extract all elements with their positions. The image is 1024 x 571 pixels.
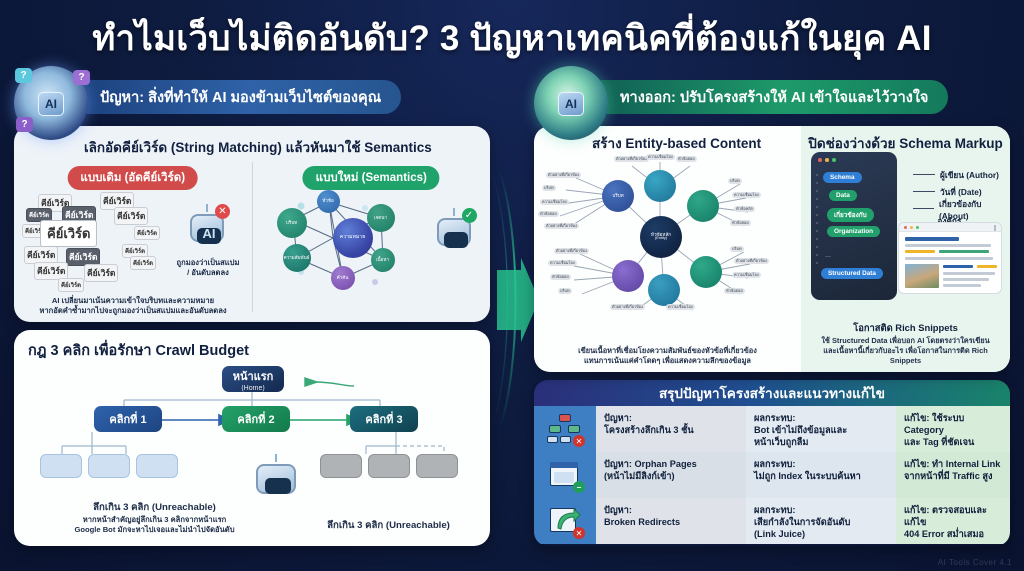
schema-tag-structured-data[interactable]: Structured Data <box>821 268 883 279</box>
graph-node: บริบท <box>277 208 307 238</box>
entity-leaf: ตัวอย่างที่เกี่ยวข้อง <box>546 172 581 178</box>
semantic-graph: ความหมาย บริบท หัวข้อ เจตนา ความสัมพันธ์… <box>271 186 421 290</box>
row-icon-cell: ✕ <box>534 498 596 544</box>
semantics-footnote: AI เปลี่ยนมาเน้นความเข้าใจบริบทและความหม… <box>24 296 242 317</box>
tree-node-click3: คลิกที่ 3 <box>350 406 418 432</box>
ai-bot-approved-icon: ✓ <box>437 212 471 250</box>
entity-panel: สร้าง Entity-based Content <box>534 126 801 372</box>
impact-cell: ผลกระทบ: Bot เข้าไม่ถึงข้อมูลและ หน้าเว็… <box>746 406 896 452</box>
crawl-caption-left: ลึกเกิน 3 คลิก (Unreachable) หากหน้าสำคั… <box>32 502 277 535</box>
rich-snippet-preview <box>898 222 1002 294</box>
table-row: ✕ ปัญหา: โครงสร้างลึกเกิน 3 ชั้น ผลกระทบ… <box>534 406 1010 452</box>
keyword-chip: คีย์เวิร์ด <box>134 226 160 240</box>
page-title-bar: ทำไมเว็บไม่ติดอันดับ? 3 ปัญหาเทคนิคที่ต้… <box>0 8 1024 68</box>
entity-leaf: บริบท <box>730 246 744 252</box>
entity-leaf: ตัวอย่างที่เกี่ยวข้อง <box>614 156 649 162</box>
entity-caption: เขียนเนื้อหาที่เชื่อมโยงความสัมพันธ์ของห… <box>540 346 795 366</box>
error-badge-icon: ✕ <box>573 527 585 539</box>
tree-leaf-unreachable <box>320 454 362 478</box>
right-column-solutions: AI ทางออก: ปรับโครงสร้างให้ AI เข้าใจและ… <box>534 72 1010 546</box>
question-bubble-icon: ? <box>15 68 32 83</box>
entity-leaf: ความเชื่อมโยง <box>646 154 675 160</box>
keyword-chip: คีย์เวิร์ด <box>58 278 84 292</box>
entity-node <box>612 260 644 292</box>
entity-leaf: หัวข้อย่อย <box>550 274 571 280</box>
connector-line <box>913 191 935 193</box>
question-bubble-icon: ? <box>16 117 33 132</box>
entity-leaf: ตัวอย่างที่เกี่ยวข้อง <box>734 258 769 264</box>
schema-caption: โอกาสติด Rich Snippets ใช้ Structured Da… <box>807 321 1004 366</box>
schema-tag[interactable]: Data <box>829 190 857 201</box>
crawl-caption-right: ลึกเกิน 3 คลิก (Unreachable) <box>296 520 481 533</box>
entity-leaf: หัวข้อย่อย <box>724 288 745 294</box>
broken-redirect-icon: ✕ <box>548 506 582 536</box>
graph-node: เนื้อหา <box>371 248 395 272</box>
ai-brain-icon-problem: ? ? ? AI <box>14 66 88 140</box>
schema-tag[interactable]: เกี่ยวข้องกับ <box>827 208 874 222</box>
entity-node <box>690 256 722 288</box>
graph-node: เจตนา <box>367 204 395 232</box>
entity-leaf: บริบท <box>558 288 572 294</box>
tree-node-click2: คลิกที่ 2 <box>222 406 290 432</box>
table-row: − ปัญหา: Orphan Pages (หน้าไม่มีลิงก์เข้… <box>534 452 1010 498</box>
entity-leaf: ความเชื่อมโยง <box>540 199 569 205</box>
crawl-heading: กฎ 3 คลิก เพื่อรักษา Crawl Budget <box>14 330 490 362</box>
keyword-chip: คีย์เวิร์ด <box>84 264 118 282</box>
graph-center-node: ความหมาย <box>333 218 373 258</box>
tree-node-click1: คลิกที่ 1 <box>94 406 162 432</box>
fix-cell: แก้ไข: ตรวจสอบและแก้ไข 404 Error สม่ำเสม… <box>896 498 1010 544</box>
flow-arrow-divider <box>487 150 541 450</box>
tree-node-home: หน้าแรก (Home) <box>222 366 284 392</box>
entity-node: บริบท <box>602 180 634 212</box>
entity-leaf: บริบท <box>542 185 556 191</box>
problem-section-pill: ปัญหา: สิ่งที่ทำให้ AI มองข้ามเว็บไซต์ขอ… <box>66 80 401 114</box>
fix-cell: แก้ไข: ใช้ระบบ Category และ Tag ที่ชัดเจ… <box>896 406 1010 452</box>
entity-leaf: ความเชื่อมโยง <box>732 272 761 278</box>
semantics-body: แบบเดิม (อัดคีย์เวิร์ด) คีย์เวิร์ด คีย์เ… <box>14 162 490 312</box>
old-approach-panel: แบบเดิม (อัดคีย์เวิร์ด) คีย์เวิร์ด คีย์เ… <box>14 162 253 312</box>
entity-node <box>644 170 676 202</box>
tree-leaf-unreachable <box>416 454 458 478</box>
left-header-row: ? ? ? AI ปัญหา: สิ่งที่ทำให้ AI มองข้ามเ… <box>14 72 490 122</box>
schema-ellipsis: ... <box>825 252 831 259</box>
entity-leaf: บริบท <box>728 178 742 184</box>
entity-leaf: หัวข้อย่อย <box>730 220 751 226</box>
entity-leaf: ความเชื่อมโยง <box>666 304 695 310</box>
site-structure-tree: หน้าแรก (Home) คลิกที่ 1 คลิกที่ 2 คลิกท… <box>14 360 490 500</box>
entity-leaf: หัวข้อย่อย <box>676 156 697 162</box>
right-header-row: AI ทางออก: ปรับโครงสร้างให้ AI เข้าใจและ… <box>534 72 1010 122</box>
keyword-stuffing-cloud: คีย์เวิร์ด คีย์เวิร์ด คีย์เวิร์ด คีย์เวิ… <box>22 190 162 286</box>
old-approach-tag: แบบเดิม (อัดคีย์เวิร์ด) <box>67 166 198 190</box>
problem-cell: ปัญหา: Orphan Pages (หน้าไม่มีลิงก์เข้า) <box>596 452 746 498</box>
entity-leaf: ตัวอย่างที่เกี่ยวข้อง <box>554 248 589 254</box>
connector-line <box>913 174 935 176</box>
entity-leaf: ตัวอย่างที่เกี่ยวข้อง <box>544 223 579 229</box>
graph-node: ความสัมพันธ์ <box>283 244 311 272</box>
summary-table-heading: สรุปปัญหาโครงสร้างและแนวทางแก้ไข <box>534 380 1010 406</box>
ai-chip-label: AI <box>38 92 64 116</box>
solution-section-pill: ทางออก: ปรับโครงสร้างให้ AI เข้าใจและไว้… <box>586 80 948 114</box>
entity-node <box>648 274 680 306</box>
error-badge-icon: ✕ <box>573 435 585 447</box>
orphan-badge-icon: − <box>573 481 585 493</box>
semantics-card: เลิกอัดคีย์เวิร์ด (String Matching) แล้ว… <box>14 126 490 322</box>
keyword-chip: คีย์เวิร์ด <box>130 256 156 270</box>
left-column-problems: ? ? ? AI ปัญหา: สิ่งที่ทำให้ AI มองข้ามเ… <box>14 72 490 546</box>
table-row: ✕ ปัญหา: Broken Redirects ผลกระทบ: เสียก… <box>534 498 1010 544</box>
graph-node: หัวข้อ <box>317 190 340 213</box>
legend-row: ผู้เขียน (Author) <box>913 166 1010 183</box>
problem-cell: ปัญหา: Broken Redirects <box>596 498 746 544</box>
entity-schema-card: สร้าง Entity-based Content <box>534 126 1010 372</box>
connector-line <box>913 208 934 210</box>
tree-leaf-reachable <box>136 454 178 478</box>
keyword-chip-primary: คีย์เวิร์ด <box>40 220 97 247</box>
browser-bar <box>899 223 1001 232</box>
summary-table: สรุปปัญหาโครงสร้างและแนวทางแก้ไข ✕ ปัญหา… <box>534 380 1010 546</box>
fix-cell: แก้ไข: ทำ Internal Link จากหน้าที่มี Tra… <box>896 452 1010 498</box>
entity-leaf: หัวข้อย่อย <box>538 211 559 217</box>
entity-node <box>687 190 719 222</box>
ai-bot-rejected-icon: AI ✕ <box>190 208 224 246</box>
window-dots-icon <box>818 158 836 162</box>
schema-heading: ปิดช่องว่างด้วย Schema Markup <box>801 132 1010 154</box>
question-bubble-icon: ? <box>73 70 90 85</box>
semantics-heading: เลิกอัดคีย์เวิร์ด (String Matching) แล้ว… <box>14 126 490 162</box>
orphan-page-icon: − <box>548 460 582 490</box>
impact-cell: ผลกระทบ: ไม่ถูก Index ในระบบค้นหา <box>746 452 896 498</box>
entity-center-node: หัวข้อหลัก (Entity) <box>640 216 682 258</box>
entity-leaf: ความเชื่อมโยง <box>732 192 761 198</box>
watermark: AI Tools Cover 4.1 <box>938 558 1012 567</box>
entity-leaf: ความเชื่อมโยง <box>548 260 577 266</box>
schema-tag[interactable]: Organization <box>827 226 880 237</box>
ai-brain-icon-solution: AI <box>534 66 608 140</box>
schema-tag[interactable]: Schema <box>823 172 862 183</box>
entity-leaf: ตัวอย่างที่เกี่ยวข้อง <box>610 304 645 310</box>
graph-node: คำค้น <box>331 266 355 290</box>
row-icon-cell: − <box>534 452 596 498</box>
tree-leaf-reachable <box>88 454 130 478</box>
page-title: ทำไมเว็บไม่ติดอันดับ? 3 ปัญหาเทคนิคที่ต้… <box>92 11 931 66</box>
crawl-budget-card: กฎ 3 คลิก เพื่อรักษา Crawl Budget <box>14 330 490 546</box>
tree-leaf-unreachable <box>368 454 410 478</box>
entity-leaf: หัวข้อหลัก <box>734 206 755 212</box>
old-approach-caption: ถูกมองว่าเป็นสแปม / อันดับลดลง <box>156 258 260 279</box>
row-icon-cell: ✕ <box>534 406 596 452</box>
new-approach-panel: แบบใหม่ (Semantics) <box>253 162 491 312</box>
crawler-bot-icon <box>256 458 296 502</box>
entity-heading: สร้าง Entity-based Content <box>592 132 801 154</box>
approve-mark-icon: ✓ <box>462 208 477 223</box>
impact-cell: ผลกระทบ: เสียกำลังในการจัดอันดับ (Link J… <box>746 498 896 544</box>
reject-mark-icon: ✕ <box>215 204 230 219</box>
tree-leaf-reachable <box>40 454 82 478</box>
schema-code-block: Schema Data เกี่ยวข้องกับ Organization .… <box>811 152 897 300</box>
sitemap-error-icon: ✕ <box>548 414 582 444</box>
schema-panel: ปิดช่องว่างด้วย Schema Markup Schema Dat… <box>801 126 1010 372</box>
problem-cell: ปัญหา: โครงสร้างลึกเกิน 3 ชั้น <box>596 406 746 452</box>
entity-graph: หัวข้อหลัก (Entity) บริบท ตัวอย่างที่เกี… <box>540 154 770 314</box>
keyword-chip: คีย์เวิร์ด <box>114 207 148 225</box>
ai-chip-label: AI <box>558 92 584 116</box>
